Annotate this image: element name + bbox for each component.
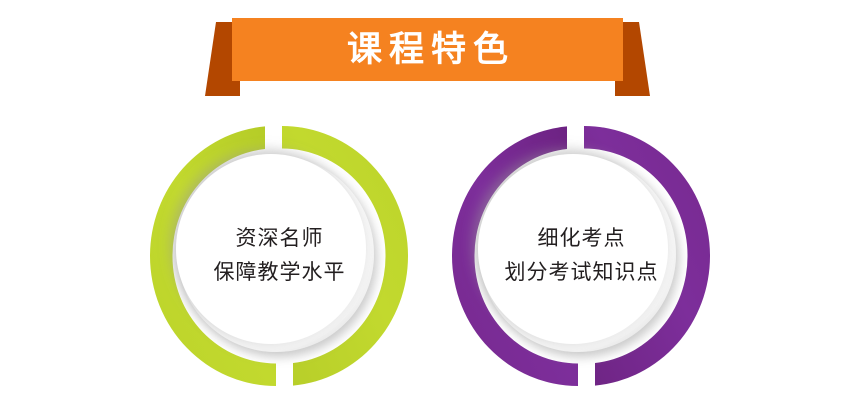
circle-ring-icon	[447, 118, 715, 394]
ribbon-band	[232, 18, 623, 81]
badge-inner-highlight	[176, 154, 366, 344]
circle-ring-icon	[145, 118, 413, 394]
ribbon-banner-icon	[0, 0, 850, 110]
banner: 课程特色	[0, 0, 850, 110]
badge-inner-highlight	[478, 154, 668, 344]
page-root: 课程特色	[0, 0, 850, 412]
badge-refined-exam-points[interactable]: 细化考点 划分考试知识点	[447, 118, 715, 394]
badge-senior-teachers[interactable]: 资深名师 保障教学水平	[145, 118, 413, 394]
